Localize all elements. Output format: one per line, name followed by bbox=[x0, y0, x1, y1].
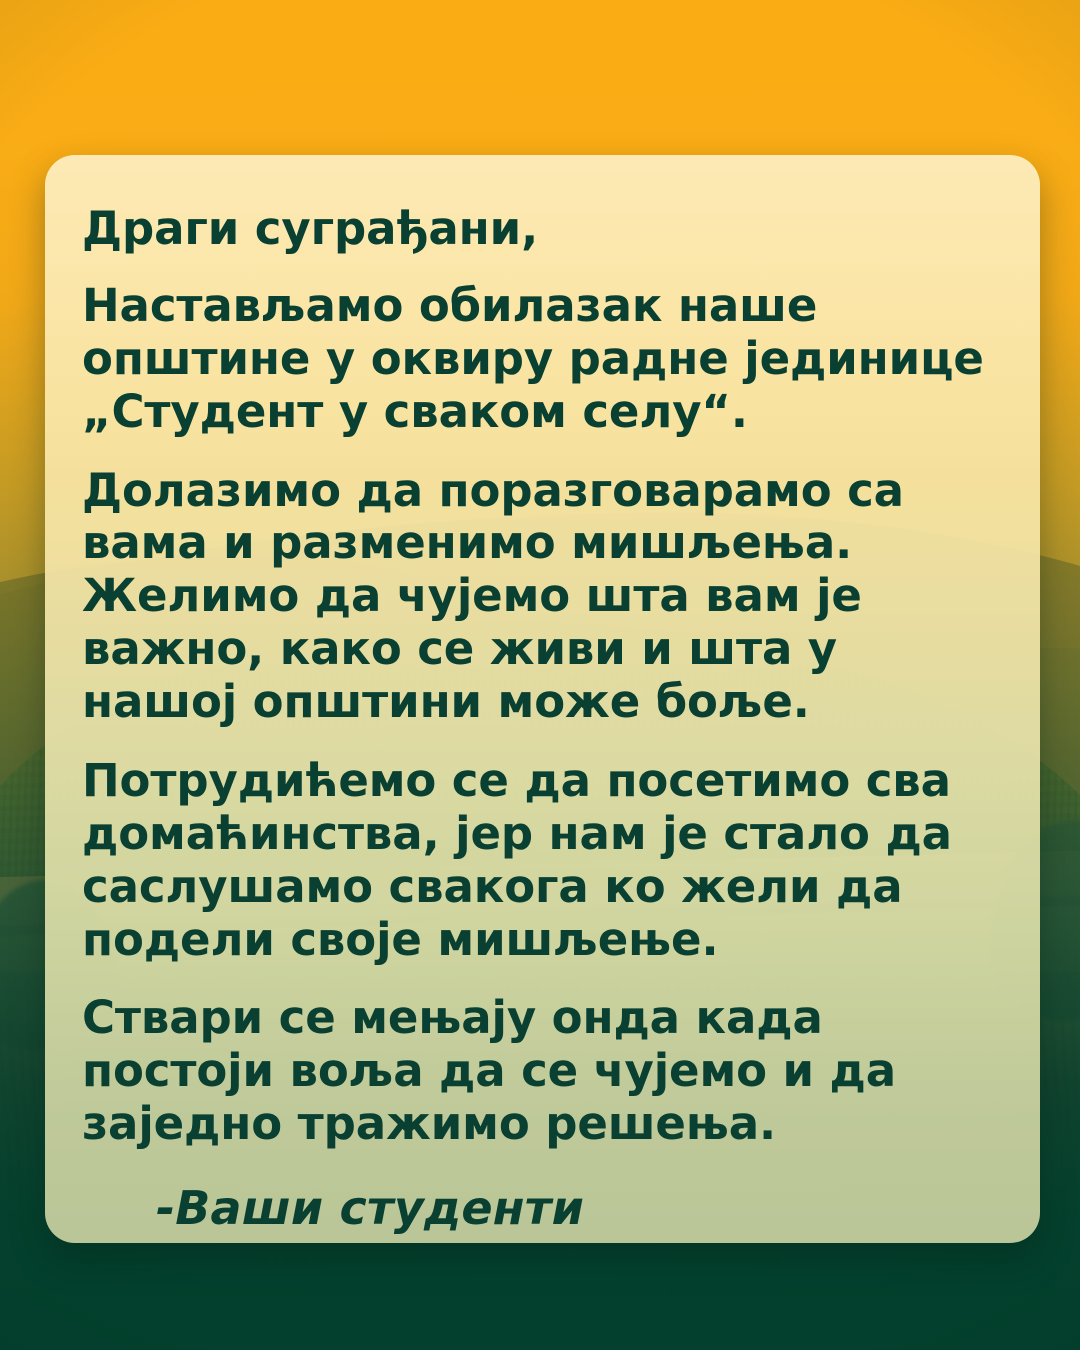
letter-paragraph-4: Ствари се мењају онда када постоји воља … bbox=[82, 992, 994, 1151]
letter-text: Драги суграђани, Настављамо обилазак наш… bbox=[82, 203, 994, 1151]
letter-paragraph-3: Потрудићемо се да посетимо сва домаћинст… bbox=[82, 755, 994, 967]
message-card: Драги суграђани, Настављамо обилазак наш… bbox=[45, 155, 1040, 1243]
letter-paragraph-1: Настављамо обилазак наше општине у оквир… bbox=[82, 280, 994, 439]
letter-paragraph-2: Долазимо да поразговарамо са вама и разм… bbox=[82, 465, 994, 729]
letter-greeting: Драги суграђани, bbox=[82, 203, 994, 256]
card-content: Драги суграђани, Настављамо обилазак наш… bbox=[45, 155, 1040, 1243]
letter-signature: -Ваши студенти bbox=[156, 1181, 994, 1235]
poster-canvas: Драги суграђани, Настављамо обилазак наш… bbox=[0, 0, 1080, 1350]
